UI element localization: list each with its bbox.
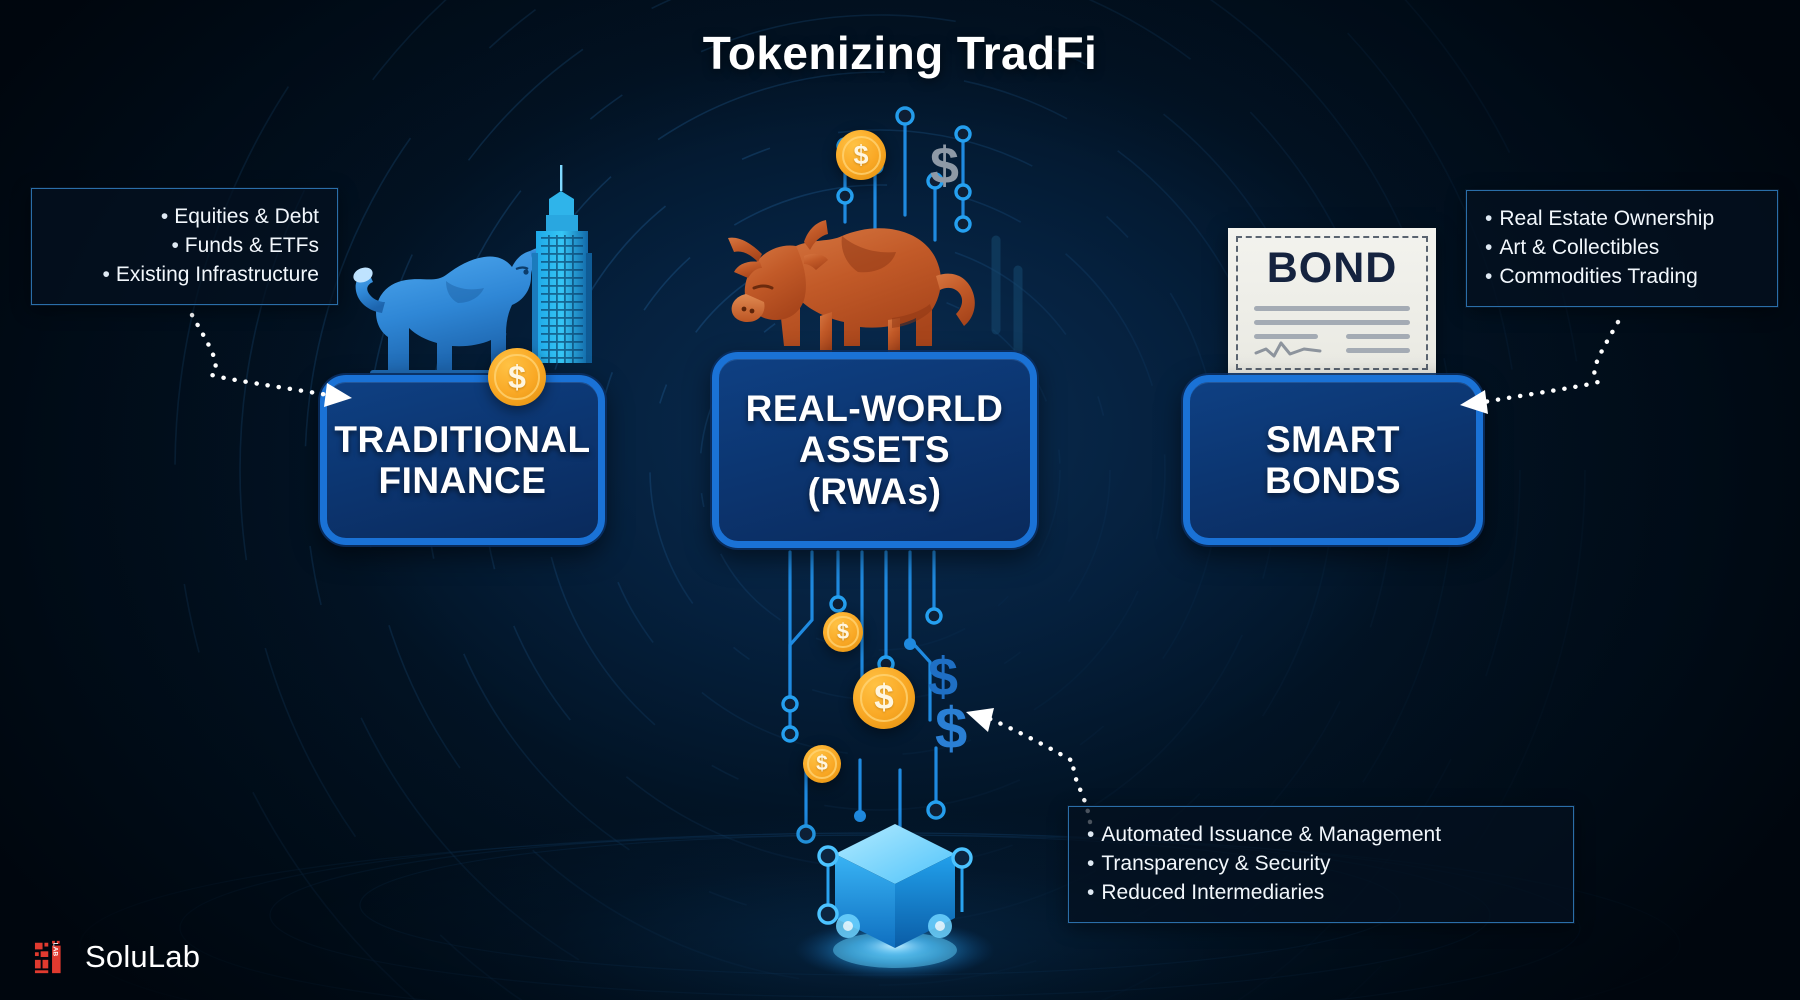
card-traditional-finance[interactable]: TRADITIONAL FINANCE bbox=[320, 375, 605, 545]
page-title: Tokenizing TradFi bbox=[0, 26, 1800, 80]
list-item: •Transparency & Security bbox=[1087, 850, 1555, 879]
list-item: •Art & Collectibles bbox=[1485, 234, 1759, 263]
bullet-icon: • bbox=[1485, 236, 1492, 259]
bond-signature-icon bbox=[1254, 340, 1324, 360]
callout-left-list: •Equities & Debt •Funds & ETFs •Existing… bbox=[50, 203, 319, 290]
callout-smart-bonds: •Automated Issuance & Management •Transp… bbox=[1068, 806, 1574, 923]
card-label-line: SMART bbox=[1265, 419, 1401, 460]
list-item-label: Funds & ETFs bbox=[185, 234, 319, 257]
list-item-label: Commodities Trading bbox=[1499, 265, 1697, 288]
dotted-arrow-icon-right bbox=[1440, 300, 1630, 425]
bond-rule bbox=[1254, 334, 1318, 339]
list-item-label: Transparency & Security bbox=[1101, 852, 1330, 875]
dollar-coin-icon-large: $ bbox=[853, 667, 915, 729]
bullet-icon: • bbox=[1485, 207, 1492, 230]
dollar-coin-icon-tradfi: $ bbox=[488, 348, 546, 406]
infographic-canvas: Tokenizing TradFi bbox=[0, 0, 1800, 1000]
list-item-label: Automated Issuance & Management bbox=[1101, 823, 1441, 846]
dollar-sign-icon-gray: $ bbox=[930, 140, 959, 192]
card-label-line: TRADITIONAL bbox=[334, 419, 590, 460]
bond-rule bbox=[1346, 348, 1410, 353]
svg-text:LAB: LAB bbox=[51, 943, 58, 957]
card-label-line: BONDS bbox=[1265, 460, 1401, 501]
solulab-logo[interactable]: LAB SoluLab bbox=[34, 938, 200, 976]
card-traditional-finance-label: TRADITIONAL FINANCE bbox=[334, 419, 590, 502]
bullet-icon: • bbox=[1087, 823, 1094, 846]
card-label-line: FINANCE bbox=[334, 460, 590, 501]
bond-rule bbox=[1254, 320, 1410, 325]
bullet-icon: • bbox=[103, 263, 110, 286]
callout-real-world-assets: •Real Estate Ownership •Art & Collectibl… bbox=[1466, 190, 1778, 307]
card-label-line: REAL-WORLD bbox=[746, 388, 1004, 429]
list-item: •Reduced Intermediaries bbox=[1087, 879, 1555, 908]
solulab-mark-icon: LAB bbox=[34, 938, 72, 976]
list-item: •Existing Infrastructure bbox=[50, 261, 319, 290]
bullet-icon: • bbox=[161, 205, 168, 228]
bullet-icon: • bbox=[171, 234, 178, 257]
callout-bottom-list: •Automated Issuance & Management •Transp… bbox=[1087, 821, 1555, 908]
dollar-coin-icon-top: $ bbox=[836, 130, 886, 180]
list-item: •Equities & Debt bbox=[50, 203, 319, 232]
dotted-arrow-icon-left bbox=[180, 295, 360, 415]
dollar-coin-icon-small-lower: $ bbox=[803, 745, 841, 783]
bond-rule bbox=[1346, 334, 1410, 339]
bullet-icon: • bbox=[1087, 881, 1094, 904]
list-item: •Automated Issuance & Management bbox=[1087, 821, 1555, 850]
callout-traditional-finance: •Equities & Debt •Funds & ETFs •Existing… bbox=[31, 188, 338, 305]
card-label-line: (RWAs) bbox=[746, 471, 1004, 512]
list-item: •Real Estate Ownership bbox=[1485, 205, 1759, 234]
list-item-label: Real Estate Ownership bbox=[1499, 207, 1714, 230]
bullet-icon: • bbox=[1087, 852, 1094, 875]
list-item-label: Existing Infrastructure bbox=[116, 263, 319, 286]
card-smart-bonds-label: SMART BONDS bbox=[1265, 419, 1401, 502]
bullet-icon: • bbox=[1485, 265, 1492, 288]
list-item-label: Reduced Intermediaries bbox=[1101, 881, 1324, 904]
card-label-line: ASSETS bbox=[746, 429, 1004, 470]
bond-certificate-icon: BOND bbox=[1228, 228, 1436, 378]
skyscraper-icon bbox=[522, 165, 602, 365]
card-real-world-assets[interactable]: REAL-WORLD ASSETS (RWAs) bbox=[712, 352, 1037, 548]
list-item-label: Art & Collectibles bbox=[1499, 236, 1659, 259]
card-smart-bonds[interactable]: SMART BONDS bbox=[1183, 375, 1483, 545]
list-item: •Commodities Trading bbox=[1485, 263, 1759, 292]
list-item-label: Equities & Debt bbox=[174, 205, 319, 228]
callout-right-list: •Real Estate Ownership •Art & Collectibl… bbox=[1485, 205, 1759, 292]
orange-bull-icon bbox=[700, 190, 990, 365]
solulab-wordmark: SoluLab bbox=[85, 939, 200, 975]
list-item: •Funds & ETFs bbox=[50, 232, 319, 261]
dollar-coin-icon-small-upper: $ bbox=[823, 612, 863, 652]
bond-rule bbox=[1254, 306, 1410, 311]
bond-heading: BOND bbox=[1228, 244, 1436, 293]
card-real-world-assets-label: REAL-WORLD ASSETS (RWAs) bbox=[746, 388, 1004, 512]
